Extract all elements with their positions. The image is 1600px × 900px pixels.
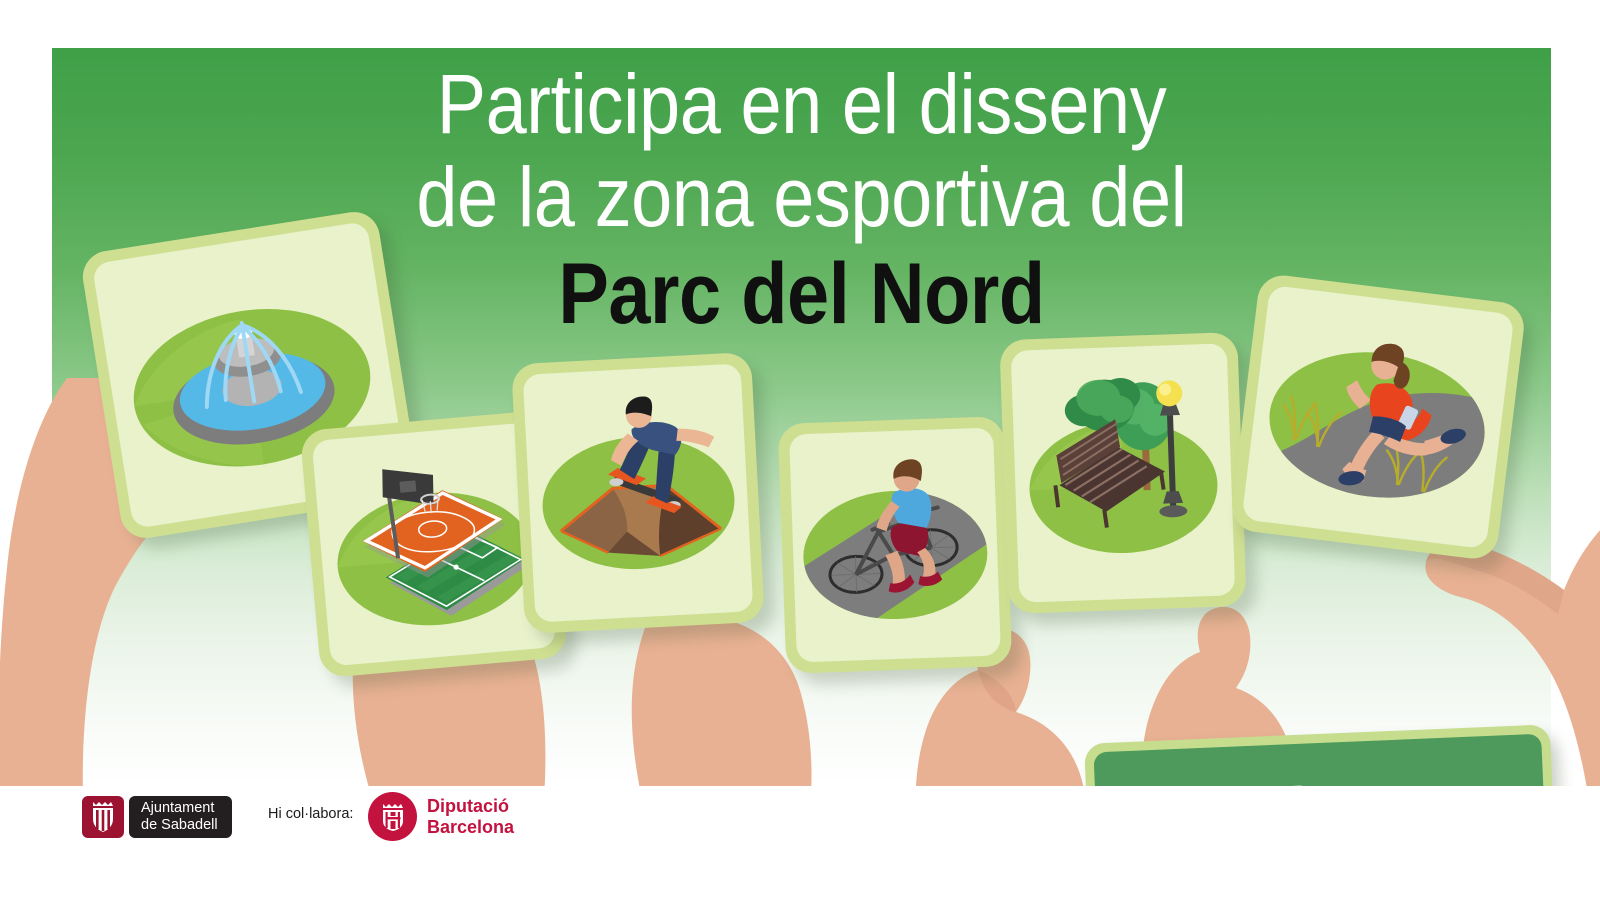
poster-canvas: Participa en el disseny de la zona espor… — [0, 0, 1600, 900]
footer: Ajuntament de Sabadell Hi col·labora: — [0, 786, 1600, 900]
sabadell-line-2: de Sabadell — [141, 817, 218, 834]
running-path-card[interactable] — [1229, 273, 1526, 562]
logo-diputacio-barcelona[interactable]: Diputació Barcelona — [368, 792, 514, 841]
sabadell-wordmark: Ajuntament de Sabadell — [129, 796, 232, 838]
skatepark-card-inner — [523, 363, 754, 622]
bench-tree-illustration — [1011, 343, 1236, 602]
sabadell-line-1: Ajuntament — [141, 800, 218, 817]
bike-lane-card-inner — [789, 428, 1001, 663]
diputacio-shield-icon — [368, 792, 417, 841]
bench-tree-card[interactable] — [999, 332, 1246, 614]
logo-ajuntament-sabadell[interactable]: Ajuntament de Sabadell — [82, 796, 232, 838]
collaborator-label: Hi col·labora: — [268, 806, 353, 822]
bike-lane-card[interactable] — [778, 416, 1013, 674]
bench-tree-card-inner — [1011, 343, 1236, 602]
running-path-illustration — [1242, 285, 1515, 549]
sabadell-shield-icon — [82, 796, 124, 838]
banner: Participa en el disseny de la zona espor… — [52, 48, 1551, 785]
bike-lane-illustration — [789, 428, 1001, 663]
diputacio-line-2: Barcelona — [427, 817, 514, 838]
skatepark-illustration — [523, 363, 754, 622]
skatepark-card[interactable] — [511, 352, 765, 634]
diputacio-wordmark: Diputació Barcelona — [427, 796, 514, 838]
running-path-card-inner — [1242, 285, 1515, 549]
diputacio-line-1: Diputació — [427, 796, 514, 817]
